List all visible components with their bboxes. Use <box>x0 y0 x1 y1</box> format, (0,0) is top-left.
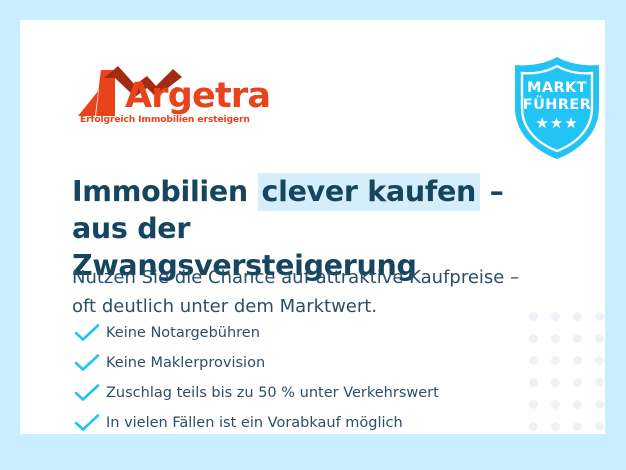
check-icon <box>72 354 102 372</box>
decoration-dot <box>573 312 582 321</box>
list-item: Zuschlag teils bis zu 50 % unter Verkehr… <box>72 378 532 408</box>
decoration-dot <box>573 334 582 343</box>
badge-line-2: FÜHRER <box>510 97 604 113</box>
subheading: Nutzen Sie die Chance auf attraktive Kau… <box>72 263 552 321</box>
decoration-dot <box>595 312 604 321</box>
headline-highlight: clever kaufen <box>258 173 480 211</box>
badge-stars: ★★★ <box>510 116 604 131</box>
list-item: Keine Notargebühren <box>72 318 532 348</box>
decoration-dot <box>551 422 560 431</box>
decoration-dot <box>595 422 604 431</box>
benefit-label: Zuschlag teils bis zu 50 % unter Verkehr… <box>102 385 439 401</box>
subheading-line-1: Nutzen Sie die Chance auf attraktive Kau… <box>72 267 519 288</box>
decoration-dot <box>573 400 582 409</box>
headline-part-2: – <box>480 175 504 208</box>
decoration-dot <box>573 422 582 431</box>
badge-line-1: MARKT <box>510 80 604 96</box>
decoration-dot <box>573 356 582 365</box>
benefit-label: Keine Notargebühren <box>102 325 260 341</box>
decoration-dot <box>595 378 604 387</box>
decoration-dot <box>551 334 560 343</box>
decoration-dot <box>551 400 560 409</box>
decoration-dot <box>595 400 604 409</box>
logo-tagline: Erfolgreich Immobilien ersteigern <box>80 114 250 125</box>
check-icon <box>72 324 102 342</box>
benefit-label: In vielen Fällen ist ein Vorabkauf mögli… <box>102 415 403 431</box>
decoration-dot <box>573 378 582 387</box>
check-icon <box>72 384 102 402</box>
decoration-dot <box>551 356 560 365</box>
benefits-list: Keine Notargebühren Keine Maklerprovisio… <box>72 318 532 434</box>
promo-banner: Argetra Erfolgreich Immobilien ersteiger… <box>0 0 626 470</box>
headline-part-1: Immobilien <box>72 175 258 208</box>
market-leader-badge: MARKT FÜHRER ★★★ <box>510 56 604 160</box>
check-icon <box>72 414 102 432</box>
decoration-dot <box>595 356 604 365</box>
benefit-label: Keine Maklerprovision <box>102 355 265 371</box>
list-item: In vielen Fällen ist ein Vorabkauf mögli… <box>72 408 532 434</box>
decoration-dot <box>595 334 604 343</box>
subheading-line-2: oft deutlich unter dem Marktwert. <box>72 296 377 317</box>
list-item: Keine Maklerprovision <box>72 348 532 378</box>
content-card: Argetra Erfolgreich Immobilien ersteiger… <box>20 20 605 434</box>
dot-grid-decoration <box>522 305 605 434</box>
argetra-logo[interactable]: Argetra Erfolgreich Immobilien ersteiger… <box>78 64 278 134</box>
logo-wordmark: Argetra <box>125 76 270 116</box>
decoration-dot <box>551 378 560 387</box>
